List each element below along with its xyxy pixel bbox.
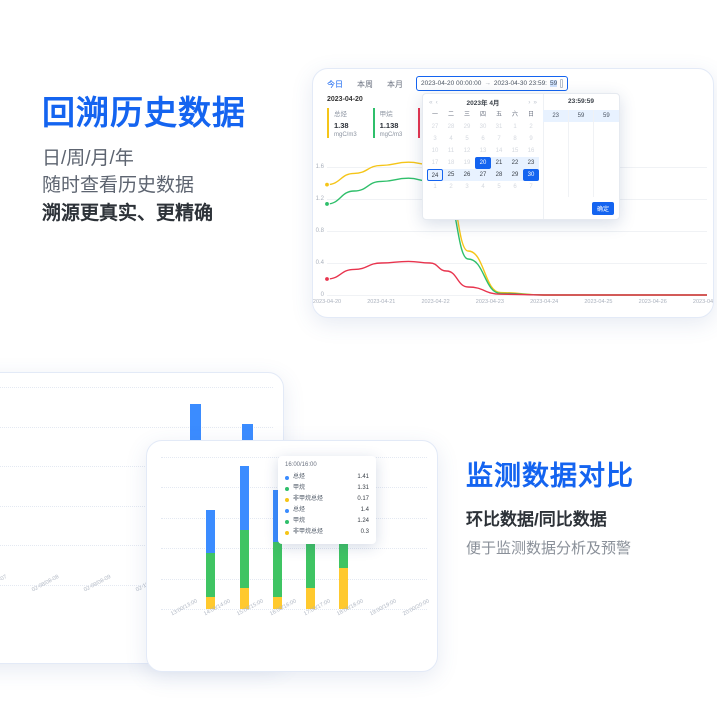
- calendar-day[interactable]: 2: [523, 121, 539, 133]
- bar-x-label: 02-07/08-07: [0, 574, 8, 593]
- chart-tooltip: 16:00/16:00 总烃1.41甲烷1.31非甲烷总烃0.17总烃1.4甲烷…: [278, 456, 376, 544]
- y-axis-tick: 0.4: [316, 260, 324, 266]
- next-year-icon[interactable]: »: [533, 99, 537, 106]
- bar-segment: [206, 553, 215, 597]
- calendar-day[interactable]: 19: [459, 157, 475, 169]
- bar-segment: [339, 568, 348, 609]
- calendar-day[interactable]: 29: [459, 121, 475, 133]
- tooltip-series-value: 1.24: [357, 516, 369, 527]
- legend-dot-icon: [285, 476, 289, 480]
- bottom-subtitle-1: 环比数据/同比数据: [466, 505, 634, 530]
- calendar-day[interactable]: 22: [507, 157, 523, 169]
- bar-x-label: 02-09/08-09: [83, 574, 112, 593]
- tooltip-row: 总烃1.4: [285, 505, 369, 516]
- period-tab-2[interactable]: 本月: [387, 79, 403, 90]
- bar-x-label: 13:00/13:00: [170, 598, 198, 617]
- calendar-day[interactable]: 25: [443, 169, 459, 181]
- confirm-button[interactable]: 确定: [592, 202, 614, 215]
- weekday-label: 五: [491, 110, 507, 121]
- time-value[interactable]: 59: [594, 110, 619, 122]
- bottom-text-block: 监测数据对比 环比数据/同比数据 便于监测数据分析及预警: [466, 462, 634, 558]
- range-end-seconds: 59: [550, 80, 557, 87]
- calendar-header: « ‹ 2023年 4月 › »: [423, 94, 543, 110]
- tooltip-row: 非甲烷总烃0.3: [285, 527, 369, 538]
- time-column-row: 235959: [543, 110, 619, 122]
- top-subtitle-line-2: 随时查看历史数据: [42, 172, 246, 200]
- tooltip-row: 甲烷1.31: [285, 483, 369, 494]
- legend-dot-icon: [285, 498, 289, 502]
- y-axis-tick: 0.8: [316, 228, 324, 234]
- calendar-day[interactable]: 6: [475, 133, 491, 145]
- time-panel: 23:59:59 235959 确定: [543, 94, 619, 219]
- calendar-day[interactable]: 26: [459, 169, 475, 181]
- tooltip-series-value: 1.41: [357, 472, 369, 483]
- tooltip-series-value: 1.4: [361, 505, 369, 516]
- top-subtitle-line-3: 溯源更真实、更精确: [42, 200, 246, 228]
- bar-segment: [206, 510, 215, 553]
- period-tab-1[interactable]: 本周: [357, 79, 373, 90]
- tooltip-row: 非甲烷总烃0.17: [285, 494, 369, 505]
- calendar-day[interactable]: 8: [507, 133, 523, 145]
- weekday-label: 二: [443, 110, 459, 121]
- calendar-day[interactable]: 17: [427, 157, 443, 169]
- metric-card-1: 甲烷1.138mgC/m3: [373, 108, 419, 138]
- calendar-day[interactable]: 14: [491, 145, 507, 157]
- page-title: 回溯历史数据: [42, 96, 246, 131]
- calendar-day[interactable]: 16: [523, 145, 539, 157]
- calendar-day[interactable]: 30: [475, 121, 491, 133]
- tooltip-row: 甲烷1.24: [285, 516, 369, 527]
- legend-dot-icon: [285, 487, 289, 491]
- calendar-day[interactable]: 6: [507, 181, 523, 193]
- bar-stack[interactable]: [240, 466, 249, 609]
- y-axis-tick: 1.2: [316, 196, 324, 202]
- calendar-day-grid: 2728293031123456789101112131415161718192…: [423, 121, 543, 193]
- tooltip-series-name: 总烃: [293, 472, 357, 483]
- page-root: 回溯历史数据 日/周/月/年 随时查看历史数据 溯源更真实、更精确 今日本周本月…: [0, 0, 717, 717]
- calendar-day[interactable]: 4: [475, 181, 491, 193]
- selected-date-label: 2023-04-20: [327, 96, 363, 103]
- metric-unit: mgC/m3: [380, 132, 403, 138]
- tooltip-series-value: 0.3: [361, 527, 369, 538]
- calendar-day[interactable]: 24: [427, 169, 443, 181]
- bottom-title: 监测数据对比: [466, 462, 634, 492]
- bar-segment: [273, 542, 282, 597]
- legend-dot-icon: [285, 509, 289, 513]
- calendar-day[interactable]: 4: [443, 133, 459, 145]
- x-axis-tick: 2023-04-27: [693, 299, 714, 305]
- tooltip-series-value: 0.17: [357, 494, 369, 505]
- calendar-day[interactable]: 29: [507, 169, 523, 181]
- legend-dot-icon: [285, 531, 289, 535]
- metric-name: 甲烷: [380, 108, 403, 118]
- calendar-day[interactable]: 18: [443, 157, 459, 169]
- data-point-marker: [325, 182, 330, 187]
- weekday-label: 一: [427, 110, 443, 121]
- bar-gridline: [0, 427, 273, 428]
- calendar-title: 2023年 4月: [438, 97, 528, 107]
- tooltip-series-name: 甲烷: [293, 483, 357, 494]
- metric-value: 1.38: [334, 121, 357, 130]
- calendar-day[interactable]: 5: [491, 181, 507, 193]
- calendar-day[interactable]: 23: [523, 157, 539, 169]
- legend-dot-icon: [285, 520, 289, 524]
- calendar-panel: « ‹ 2023年 4月 › » 一二三四五六日 272829303112345…: [423, 94, 544, 219]
- tooltip-series-name: 非甲烷总烃: [293, 527, 361, 538]
- x-axis-tick: 2023-04-24: [530, 299, 558, 305]
- calendar-day[interactable]: 27: [475, 169, 491, 181]
- time-title: 23:59:59: [543, 94, 619, 110]
- metric-value: 1.138: [380, 121, 403, 130]
- calendar-day[interactable]: 5: [459, 133, 475, 145]
- time-divider-1: [568, 110, 569, 197]
- calendar-day[interactable]: 28: [491, 169, 507, 181]
- top-text-block: 回溯历史数据 日/周/月/年 随时查看历史数据 溯源更真实、更精确: [42, 96, 246, 227]
- x-axis-tick: 2023-04-26: [639, 299, 667, 305]
- calendar-day[interactable]: 31: [491, 121, 507, 133]
- weekday-label: 六: [507, 110, 523, 121]
- x-axis-tick: 2023-04-20: [313, 299, 341, 305]
- x-axis-tick: 2023-04-22: [421, 299, 449, 305]
- data-point-marker: [325, 202, 330, 207]
- bar-x-label: 19:00/19:00: [369, 598, 397, 617]
- period-tab-0[interactable]: 今日: [327, 79, 343, 90]
- range-end-value: 2023-04-30 23:59:: [494, 80, 547, 87]
- calendar-day[interactable]: 12: [459, 145, 475, 157]
- date-range-input[interactable]: 2023-04-20 00:00:00 → 2023-04-30 23:59: …: [416, 76, 568, 91]
- weekday-label: 三: [459, 110, 475, 121]
- y-axis-tick: 1.6: [316, 164, 324, 170]
- calendar-day[interactable]: 7: [491, 133, 507, 145]
- bar-gridline: [0, 387, 273, 388]
- metric-card-0: 总烃1.38mgC/m3: [327, 108, 373, 138]
- tooltip-row: 总烃1.41: [285, 472, 369, 483]
- calendar-day[interactable]: 27: [427, 121, 443, 133]
- calendar-day[interactable]: 20: [475, 157, 491, 169]
- calendar-day[interactable]: 15: [507, 145, 523, 157]
- calendar-day[interactable]: 9: [523, 133, 539, 145]
- bar-x-label: 20:00/20:00: [402, 598, 430, 617]
- calendar-day[interactable]: 21: [491, 157, 507, 169]
- time-value[interactable]: 59: [568, 110, 593, 122]
- calendar-day[interactable]: 2: [443, 181, 459, 193]
- top-subtitle-group: 日/周/月/年 随时查看历史数据 溯源更真实、更精确: [42, 145, 246, 228]
- tooltip-series-value: 1.31: [357, 483, 369, 494]
- bar-gridline: [161, 548, 427, 549]
- bar-segment: [240, 466, 249, 530]
- top-subtitle-line-1: 日/周/月/年: [42, 145, 246, 173]
- date-picker-popup[interactable]: « ‹ 2023年 4月 › » 一二三四五六日 272829303112345…: [422, 93, 620, 220]
- calendar-day[interactable]: 11: [443, 145, 459, 157]
- tooltip-series-name: 甲烷: [293, 516, 357, 527]
- tooltip-rows: 总烃1.41甲烷1.31非甲烷总烃0.17总烃1.4甲烷1.24非甲烷总烃0.3: [285, 472, 369, 538]
- calendar-day[interactable]: 30: [523, 169, 539, 181]
- weekday-label: 日: [523, 110, 539, 121]
- calendar-day[interactable]: 1: [427, 181, 443, 193]
- tooltip-series-name: 非甲烷总烃: [293, 494, 357, 505]
- prev-year-icon[interactable]: «: [429, 99, 433, 106]
- bar-x-label: 02-08/08-08: [31, 574, 60, 593]
- calendar-day[interactable]: 28: [443, 121, 459, 133]
- history-dashboard-card: 今日本周本月全年 2023-04-20 00:00:00 → 2023-04-3…: [312, 68, 714, 318]
- next-month-icon[interactable]: ›: [528, 99, 530, 106]
- x-axis-tick: 2023-04-23: [476, 299, 504, 305]
- metric-name: 总烃: [334, 108, 357, 118]
- calendar-day[interactable]: 10: [427, 145, 443, 157]
- metric-unit: mgC/m3: [334, 132, 357, 138]
- bar-stack[interactable]: [206, 510, 215, 609]
- weekday-header-row: 一二三四五六日: [423, 110, 543, 121]
- bar-gridline: [161, 579, 427, 580]
- bottom-subtitle-2: 便于监测数据分析及预警: [466, 537, 634, 558]
- range-arrow-icon: →: [484, 80, 491, 87]
- x-axis-tick: 2023-04-21: [367, 299, 395, 305]
- tooltip-title: 16:00/16:00: [285, 462, 369, 468]
- line-series: [327, 261, 707, 295]
- calendar-day[interactable]: 3: [459, 181, 475, 193]
- time-divider-2: [593, 110, 594, 197]
- tooltip-series-name: 总烃: [293, 505, 361, 516]
- calendar-day[interactable]: 13: [475, 145, 491, 157]
- calendar-day[interactable]: 3: [427, 133, 443, 145]
- calendar-day[interactable]: 1: [507, 121, 523, 133]
- calendar-day[interactable]: 7: [523, 181, 539, 193]
- x-axis-tick: 2023-04-25: [584, 299, 612, 305]
- data-point-marker: [325, 277, 330, 282]
- range-start-value: 2023-04-20 00:00:00: [421, 80, 481, 87]
- weekday-label: 四: [475, 110, 491, 121]
- bar-segment: [240, 530, 249, 589]
- y-axis-tick: 0: [321, 292, 324, 298]
- time-value[interactable]: 23: [543, 110, 568, 122]
- calendar-icon[interactable]: [560, 79, 563, 88]
